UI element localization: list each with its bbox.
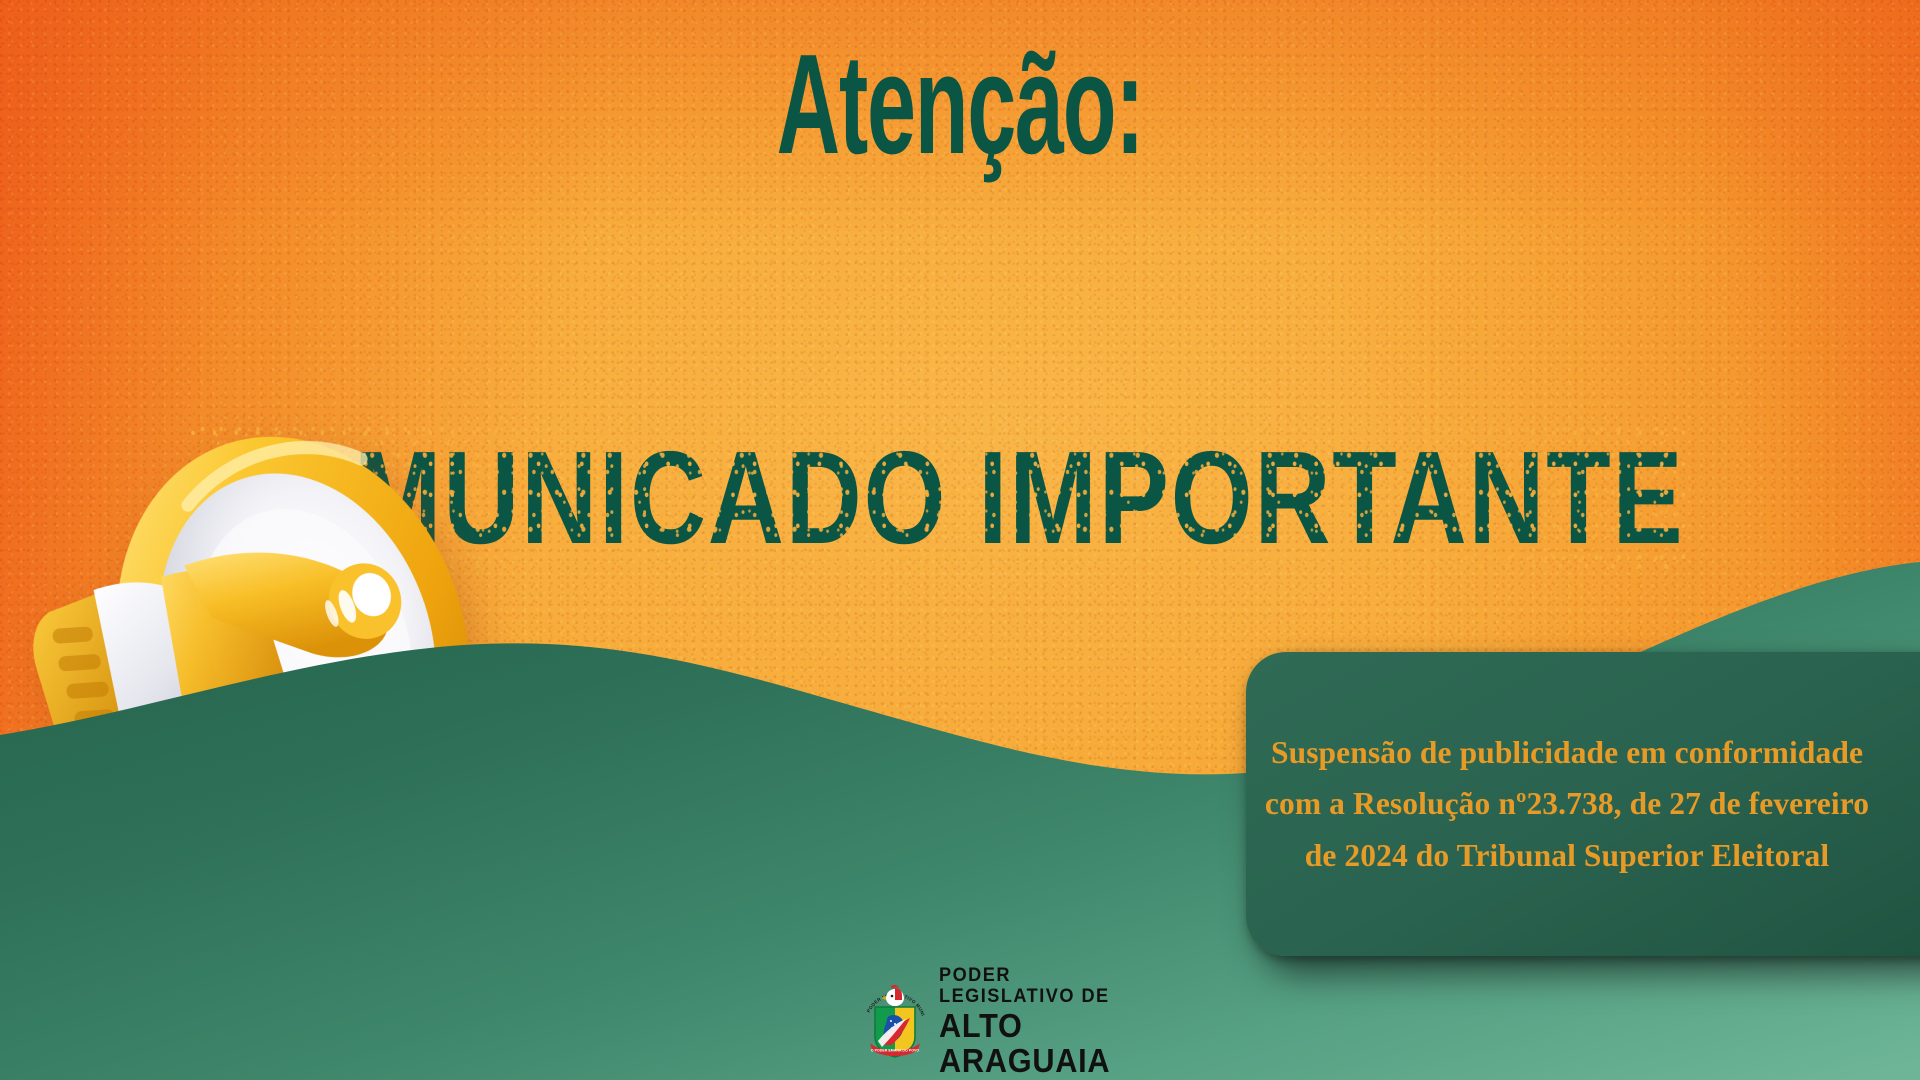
page-title-eyebrow: Atenção: — [365, 34, 1555, 176]
logo: PODER LEGISLATIVO MUNICIPAL — [862, 981, 1142, 1063]
notice-text: Suspensão de publicidade em conformidade… — [1257, 727, 1877, 880]
notice-card: Suspensão de publicidade em conformidade… — [1246, 652, 1920, 956]
logo-wordmark: PODER LEGISLATIVO DE ALTO ARAGUAIA — [939, 965, 1142, 1078]
poster-canvas: Atenção: COMUNICADO IMPORTANTE — [0, 0, 1920, 1080]
svg-text:O PODER EMANA DO POVO: O PODER EMANA DO POVO — [871, 1049, 920, 1053]
logo-line-1: PODER LEGISLATIVO DE — [939, 965, 1128, 1006]
coat-of-arms-icon: PODER LEGISLATIVO MUNICIPAL — [862, 983, 928, 1061]
logo-line-2: ALTO ARAGUAIA — [939, 1009, 1128, 1078]
